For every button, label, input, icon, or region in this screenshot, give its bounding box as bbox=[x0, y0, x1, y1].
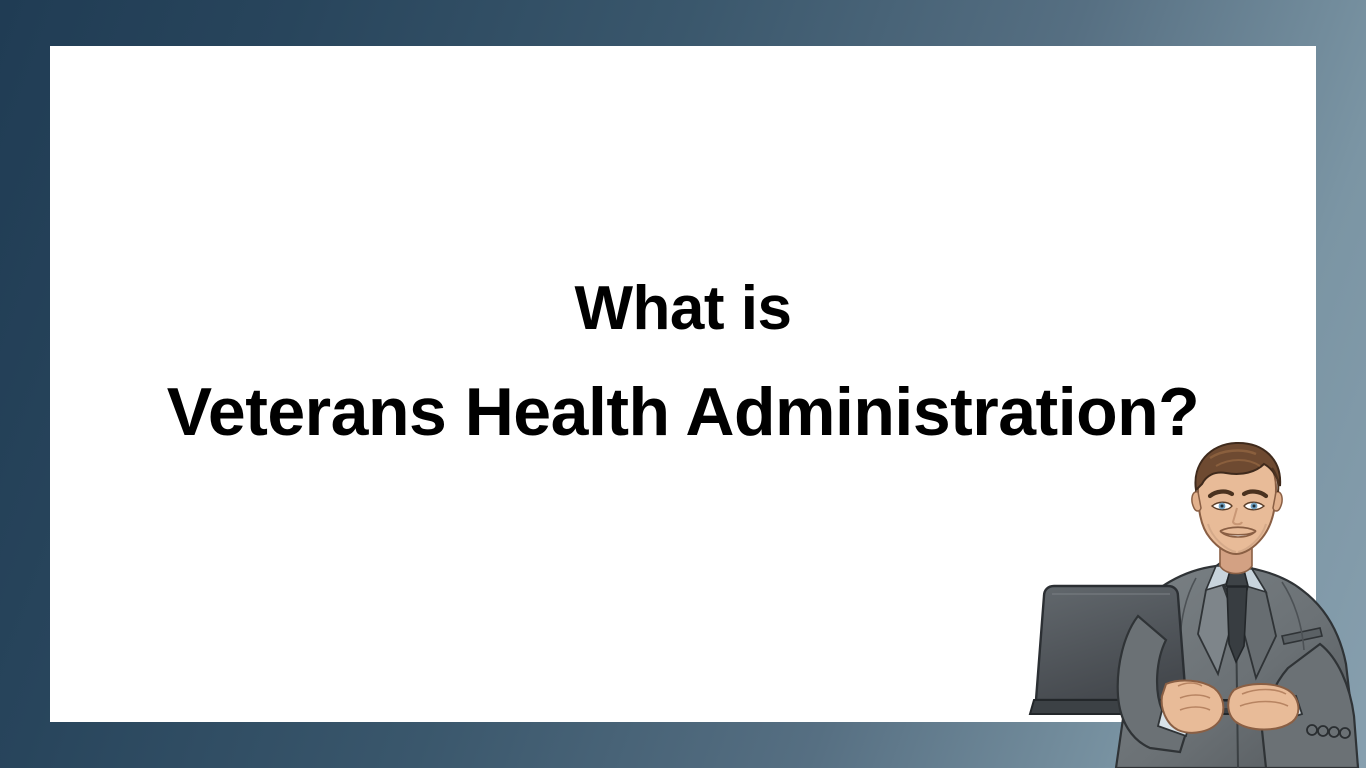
slide-title: What is Veterans Health Administration? bbox=[50, 278, 1316, 446]
businessman-illustration-svg bbox=[1020, 438, 1366, 768]
face bbox=[1192, 443, 1282, 574]
title-line-1: What is bbox=[50, 278, 1316, 340]
businessman-with-laptop-illustration bbox=[1020, 438, 1366, 768]
presentation-slide: What is Veterans Health Administration? bbox=[0, 0, 1366, 768]
title-line-2: Veterans Health Administration? bbox=[50, 378, 1316, 446]
